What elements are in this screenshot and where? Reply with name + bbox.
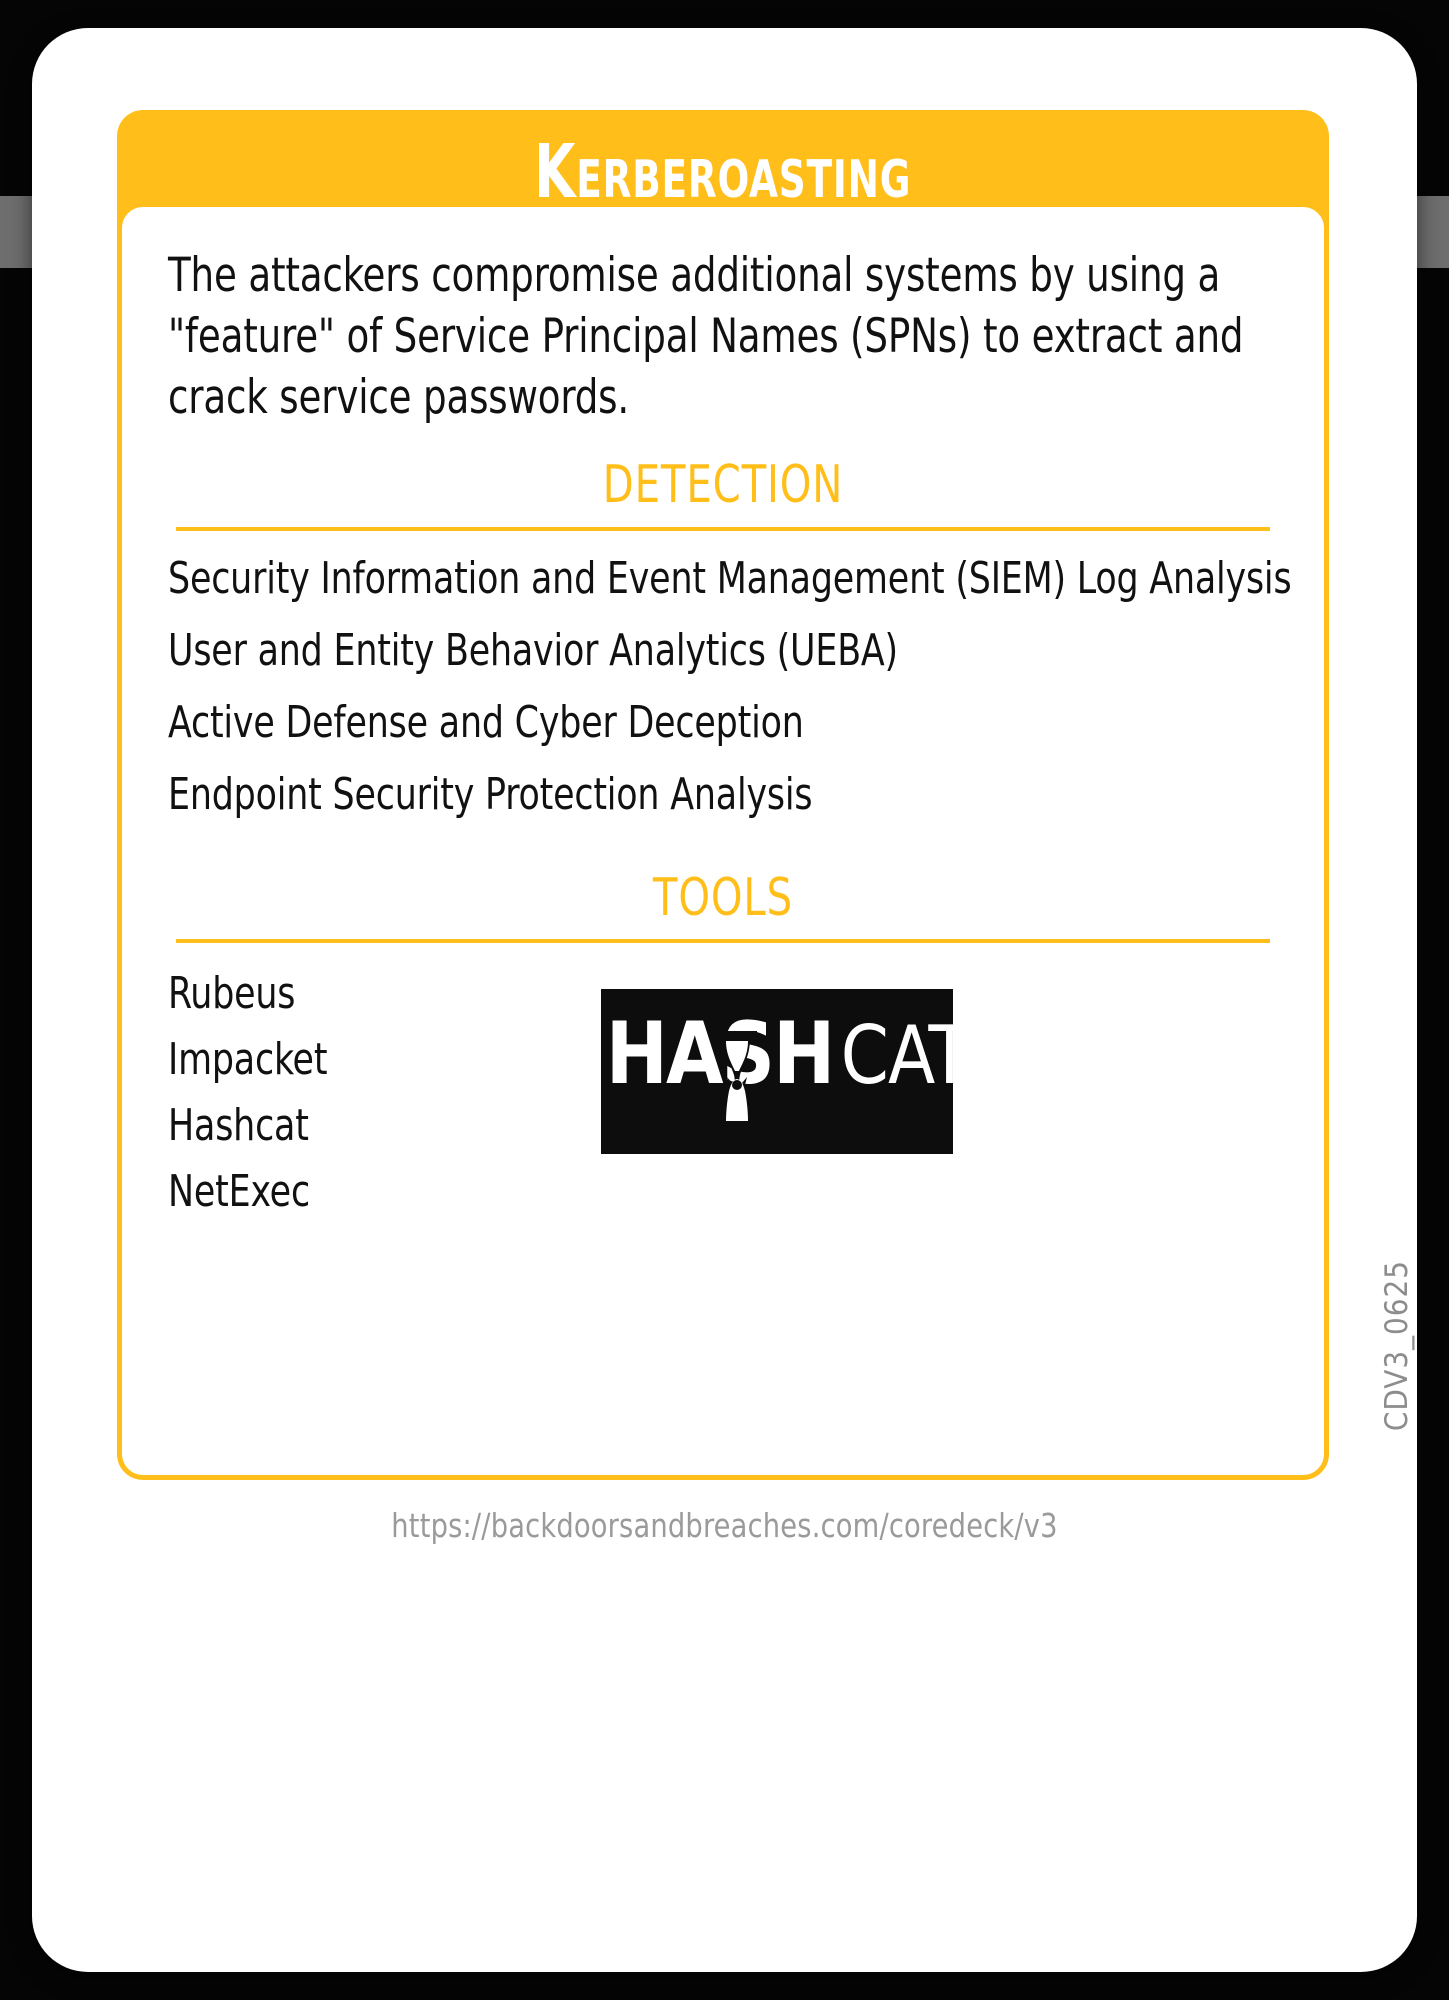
list-item: Endpoint Security Protection Analysis — [168, 769, 1311, 841]
card-description: The attackers compromise additional syst… — [168, 245, 1272, 428]
hashcat-wordmark-light: CAT — [841, 1016, 953, 1096]
detection-section: DETECTION Security Information and Event… — [168, 458, 1278, 840]
list-item: Security Information and Event Managemen… — [168, 553, 1311, 625]
footer-url[interactable]: https://backdoorsandbreaches.com/coredec… — [87, 1506, 1361, 1545]
tools-divider — [176, 939, 1270, 943]
list-item: Active Defense and Cyber Deception — [168, 697, 1311, 769]
tools-heading: TOOLS — [246, 871, 1201, 926]
card-panel: Kerberoasting The attackers compromise a… — [117, 110, 1329, 1480]
hashcat-wordmark: HASHCAT — [601, 1011, 953, 1097]
edition-code: CDV3_0625 — [1379, 1260, 1415, 1431]
card-body: The attackers compromise additional syst… — [117, 202, 1329, 1480]
list-item: User and Entity Behavior Analytics (UEBA… — [168, 625, 1311, 697]
detection-heading: DETECTION — [246, 458, 1201, 513]
detection-divider — [176, 527, 1270, 531]
tools-content: Rubeus Impacket Hashcat NetExec HASHCAT — [168, 961, 1278, 1225]
hashcat-logo: HASHCAT — [601, 989, 953, 1154]
tools-section: TOOLS Rubeus Impacket Hashcat NetExec HA… — [168, 871, 1278, 1226]
incident-response-card: Kerberoasting The attackers compromise a… — [32, 28, 1417, 1972]
list-item: NetExec — [168, 1159, 1272, 1225]
page-title: Kerberoasting — [534, 135, 911, 209]
detection-list: Security Information and Event Managemen… — [168, 553, 1278, 841]
hashcat-cat-icon — [709, 1023, 765, 1141]
